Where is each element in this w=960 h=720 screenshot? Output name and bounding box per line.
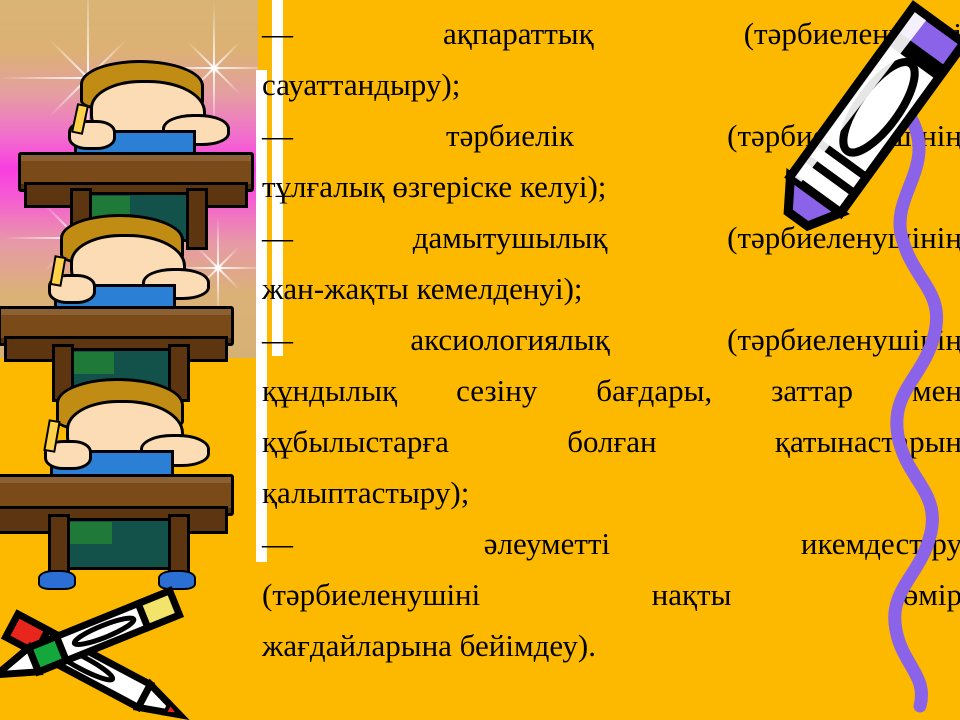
slide-canvas: — ақпараттық (тәрбиеленушіні сауаттандыр… <box>0 0 960 720</box>
child-at-desk <box>0 200 232 348</box>
text-word: бағдары, <box>596 365 712 416</box>
text-word: (тәрбиеленушіні <box>262 569 480 620</box>
dash-marker: — <box>262 212 293 263</box>
text-word: заттар <box>771 365 853 416</box>
child-at-desk <box>12 52 252 192</box>
text-word: аксиологиялық <box>410 314 609 365</box>
child-body-detail <box>66 522 112 544</box>
dash-marker: — <box>262 314 293 365</box>
dash-marker: — <box>262 8 293 59</box>
text-word: тәрбиелік <box>446 110 574 161</box>
crossed-pencils-icon <box>0 560 250 720</box>
child-at-desk <box>0 368 233 518</box>
text-word: әлеуметті <box>484 518 610 569</box>
text-word: ақпараттық <box>443 8 594 59</box>
dash-marker: — <box>262 110 293 161</box>
dash-marker: — <box>262 518 293 569</box>
purple-crayon-icon <box>778 0 960 244</box>
text-word: құндылық <box>262 365 397 416</box>
text-word: нақты <box>652 569 732 620</box>
text-word: сезіну <box>456 365 537 416</box>
text-word: болған <box>567 416 656 467</box>
text-word: құбылыстарға <box>262 416 449 467</box>
text-word: дамытушылық <box>413 212 608 263</box>
